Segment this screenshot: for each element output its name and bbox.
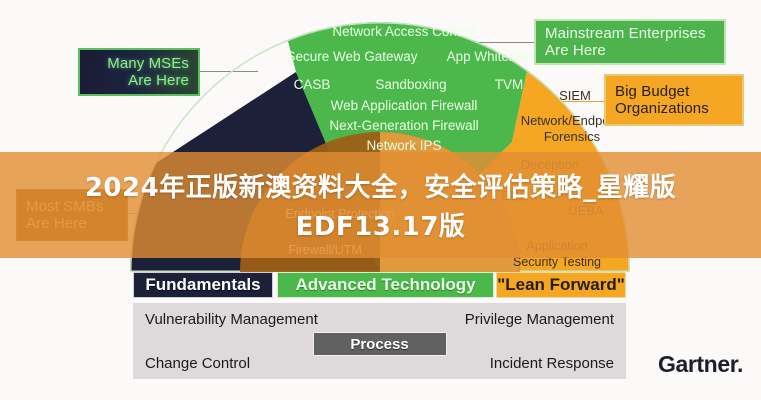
bar-advanced-technology[interactable]: Advanced Technology [277,272,494,298]
watermark-line-2: EDF13.17版 [296,206,466,243]
gartner-logo-dot: . [737,351,743,377]
label-sandboxing: Sandboxing [375,77,446,92]
bar-lean-forward[interactable]: "Lean Forward" [496,272,626,298]
gartner-logo: Gartner. [658,351,743,378]
label-casb: CASB [294,77,331,92]
callout-bigbudget-line1: Big Budget [615,83,733,100]
process-change-control: Change Control [145,355,250,372]
callout-mainstream-enterprises[interactable]: Mainstream Enterprises Are Here [534,19,726,65]
watermark-text: 2024年正版新澳资料大全，安全评估策略_星耀版 EDF13.17版 [0,152,761,258]
screenshot-root: Network Access Control Secure Web Gatewa… [0,0,761,400]
label-network-ips: Network IPS [366,138,441,153]
label-next-generation-firewall: Next-Generation Firewall [329,118,478,133]
process-panel: Vulnerability Management Privilege Manag… [133,303,626,379]
process-center-box[interactable]: Process [313,332,447,356]
callout-many-mses-line2: Are Here [89,72,189,89]
label-app-whitelisting: App Whitelisting [447,49,544,64]
watermark-line-1: 2024年正版新澳资料大全，安全评估策略_星耀版 [85,167,676,204]
label-tvm: TVM [495,77,524,92]
callout-big-budget-organizations[interactable]: Big Budget Organizations [604,74,744,126]
label-web-application-firewall: Web Application Firewall [331,98,478,113]
label-forensics: Forensics [544,129,601,144]
label-network-access-control: Network Access Control [332,24,475,39]
bar-fundamentals[interactable]: Fundamentals [133,272,273,298]
callout-many-mses[interactable]: Many MSEs Are Here [78,48,200,96]
label-secure-web-gateway: Secure Web Gateway [286,49,417,64]
callout-many-mses-line1: Many MSEs [89,55,189,72]
process-vulnerability-management: Vulnerability Management [145,311,318,328]
process-incident-response: Incident Response [490,355,614,372]
callout-bigbudget-line2: Organizations [615,100,733,117]
process-privilege-management: Privilege Management [465,311,614,328]
label-siem: SIEM [559,88,591,103]
callout-mainstream-line1: Mainstream Enterprises [545,25,715,42]
gartner-logo-text: Gartner [658,351,737,377]
callout-mainstream-line2: Are Here [545,42,715,59]
